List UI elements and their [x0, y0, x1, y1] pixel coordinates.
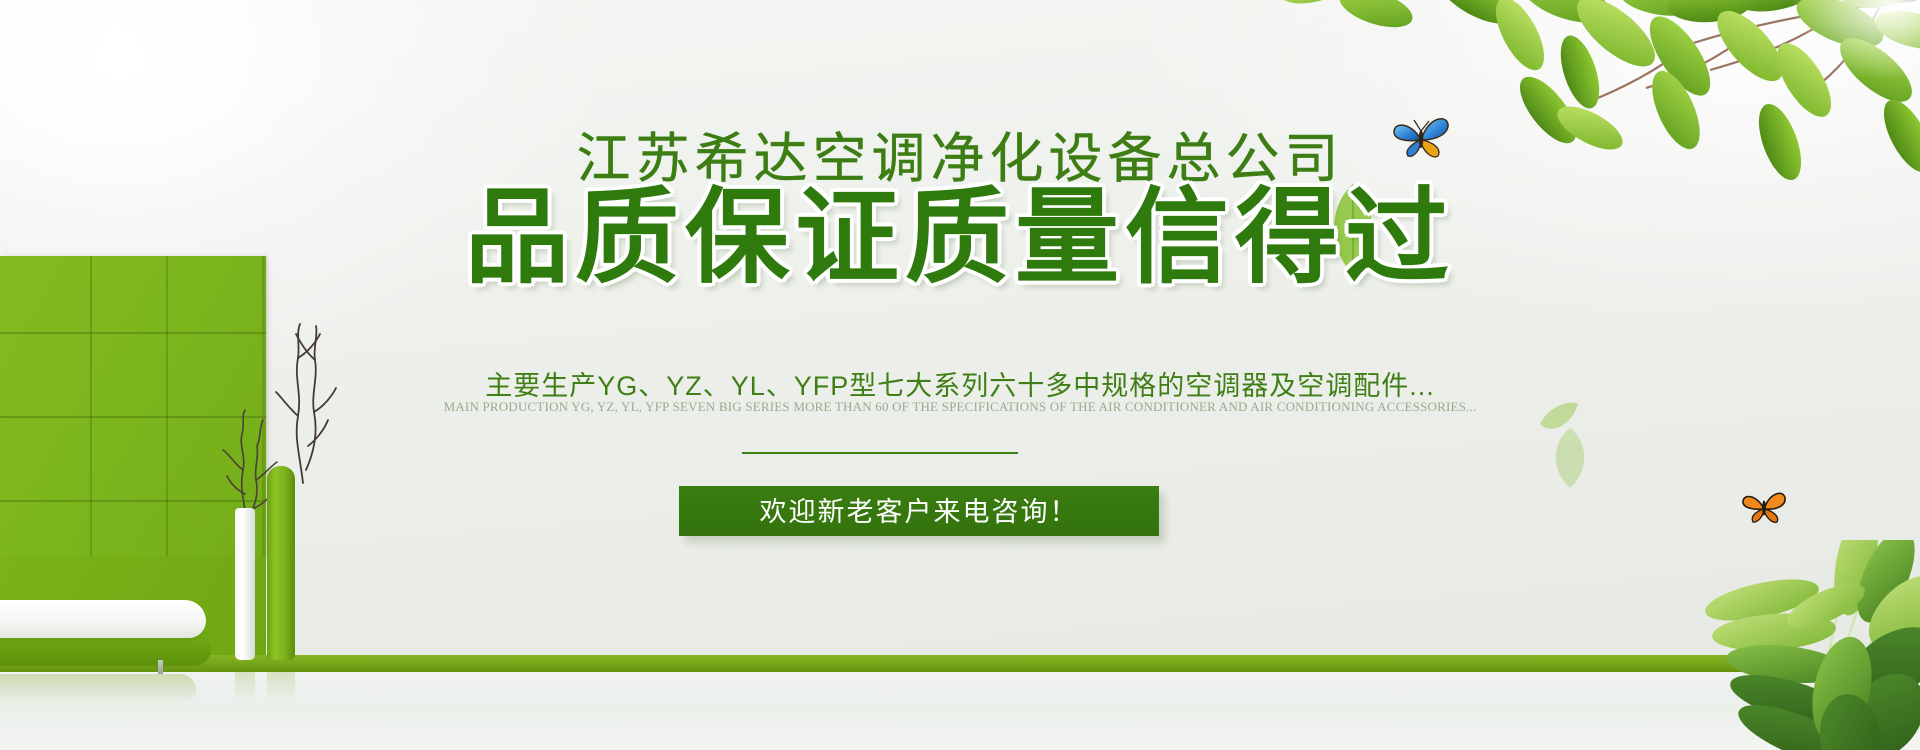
contact-cta-button[interactable]: 欢迎新老客户来电咨询！: [679, 486, 1159, 536]
banner-headline: 品质保证质量信得过: [0, 186, 1920, 290]
banner-subtitle-cn: 主要生产YG、YZ、YL、YFP型七大系列六十多中规格的空调器及空调配件...: [0, 364, 1920, 403]
hero-banner: 江苏希达空调净化设备总公司 品质保证质量信得过 主要生产YG、YZ、YL、YFP…: [0, 0, 1920, 750]
banner-content: 江苏希达空调净化设备总公司 品质保证质量信得过 主要生产YG、YZ、YL、YFP…: [0, 0, 1920, 750]
divider-rule: [742, 452, 1018, 454]
banner-subtitle-en: MAIN PRODUCTION YG, YZ, YL, YFP SEVEN BI…: [0, 399, 1920, 415]
